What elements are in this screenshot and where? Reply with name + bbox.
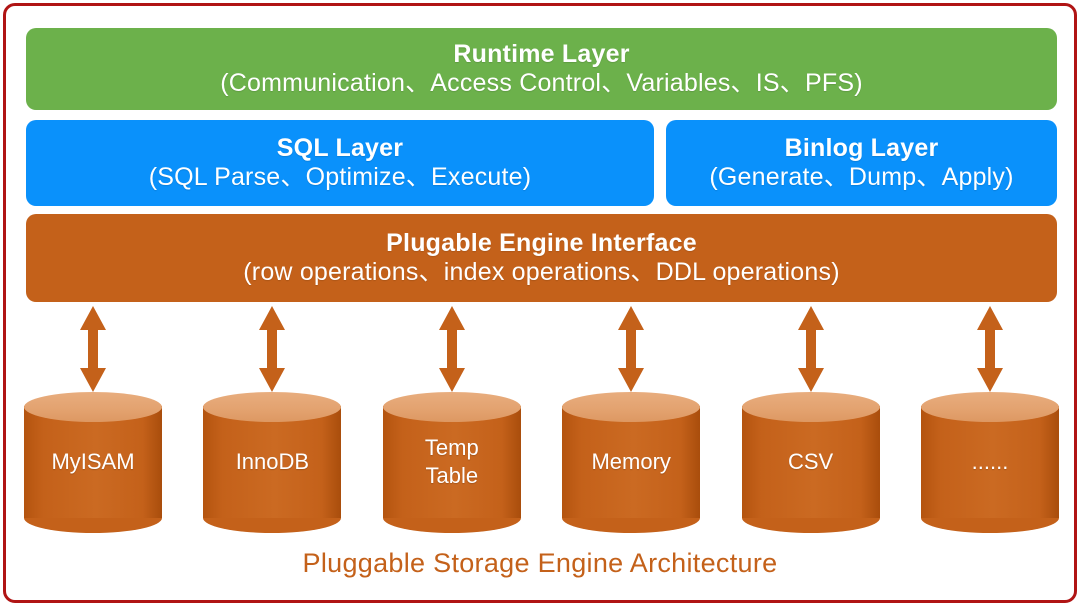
- runtime-layer-detail: (Communication、Access Control、Variables、…: [220, 69, 862, 99]
- storage-engine-label-line1: CSV: [788, 448, 833, 476]
- storage-engine-cylinder: Memory: [562, 392, 700, 532]
- storage-engine-cylinder: CSV: [742, 392, 880, 532]
- connector-arrow-4: [616, 306, 646, 392]
- sql-layer-title: SQL Layer: [277, 134, 403, 164]
- storage-engine-cylinder: MyISAM: [24, 392, 162, 532]
- runtime-layer-title: Runtime Layer: [453, 40, 629, 70]
- binlog-layer-detail: (Generate、Dump、Apply): [709, 163, 1013, 193]
- storage-engine-label: ......: [921, 392, 1059, 532]
- plugable-engine-interface-box: Plugable Engine Interface (row operation…: [26, 214, 1057, 302]
- storage-engine-cylinder: ......: [921, 392, 1059, 532]
- diagram-caption: Pluggable Storage Engine Architecture: [0, 548, 1080, 579]
- storage-engine-label: TempTable: [383, 392, 521, 532]
- connector-arrow-6: [975, 306, 1005, 392]
- binlog-layer-box: Binlog Layer (Generate、Dump、Apply): [666, 120, 1057, 206]
- storage-engine-label: Memory: [562, 392, 700, 532]
- runtime-layer-box: Runtime Layer (Communication、Access Cont…: [26, 28, 1057, 110]
- architecture-diagram: Runtime Layer (Communication、Access Cont…: [0, 0, 1080, 606]
- sql-layer-detail: (SQL Parse、Optimize、Execute): [149, 163, 532, 193]
- storage-engine-label-line1: InnoDB: [236, 448, 309, 476]
- storage-engine-label-line1: ......: [972, 448, 1009, 476]
- storage-engine-label-line2: Table: [426, 462, 479, 490]
- storage-engine-label-line1: Memory: [591, 448, 670, 476]
- binlog-layer-title: Binlog Layer: [785, 134, 939, 164]
- storage-engine-label-line1: MyISAM: [51, 448, 134, 476]
- storage-engine-label: CSV: [742, 392, 880, 532]
- engine-interface-title: Plugable Engine Interface: [386, 229, 697, 259]
- connector-arrow-2: [257, 306, 287, 392]
- storage-engine-cylinder: InnoDB: [203, 392, 341, 532]
- storage-engine-label-line1: Temp: [425, 434, 479, 462]
- connector-arrow-3: [437, 306, 467, 392]
- connector-arrow-5: [796, 306, 826, 392]
- engine-interface-detail: (row operations、index operations、DDL ope…: [243, 258, 839, 288]
- storage-engine-cylinder: TempTable: [383, 392, 521, 532]
- connector-arrow-1: [78, 306, 108, 392]
- storage-engine-label: InnoDB: [203, 392, 341, 532]
- storage-engine-label: MyISAM: [24, 392, 162, 532]
- sql-layer-box: SQL Layer (SQL Parse、Optimize、Execute): [26, 120, 654, 206]
